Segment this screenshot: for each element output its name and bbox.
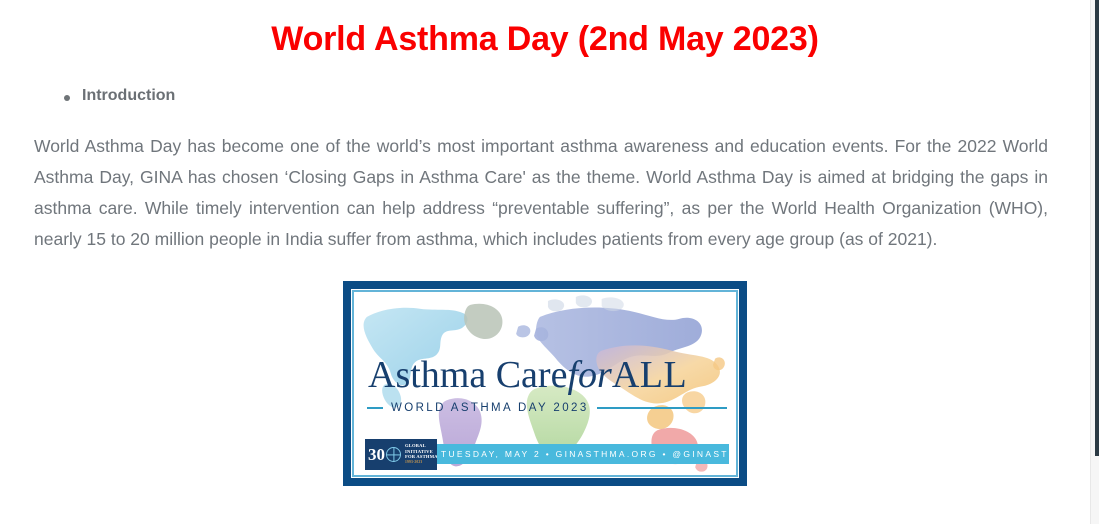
banner-headline-part2: ALL [612, 354, 687, 396]
vertical-scrollbar[interactable] [1090, 0, 1099, 524]
banner-headline: Asthma CareforALL [368, 355, 687, 395]
scrollbar-thumb[interactable] [1095, 0, 1099, 456]
banner-canvas: Asthma CareforALL WORLD ASTHMA DAY 2023 … [351, 289, 739, 478]
banner-footer-text: TUESDAY, MAY 2 • GINASTHMA.ORG • @GINAST… [441, 449, 739, 459]
banner-subtitle-row: WORLD ASTHMA DAY 2023 [367, 402, 727, 414]
section-heading-label: Introduction [82, 86, 175, 106]
globe-icon [386, 447, 401, 462]
page-title: World Asthma Day (2nd May 2023) [0, 0, 1090, 59]
bullet-icon [64, 95, 70, 101]
subtitle-right-rule [597, 407, 727, 409]
world-asthma-day-banner: Asthma CareforALL WORLD ASTHMA DAY 2023 … [343, 281, 747, 486]
gina-logo-wordmark: GLOBAL INITIATIVE FOR ASTHMA 1993-2023 [405, 443, 437, 466]
gina-logo-years: 1993-2023 [405, 460, 437, 465]
intro-paragraph: World Asthma Day has become one of the w… [0, 131, 1090, 255]
section-heading-introduction: Introduction [0, 86, 1090, 106]
gina-anniversary-number: 30 [368, 446, 385, 463]
gina-logo: 30 GLOBAL INITIATIVE FOR ASTHMA 1993-202… [365, 439, 437, 470]
banner-subtitle: WORLD ASTHMA DAY 2023 [391, 402, 589, 414]
subtitle-left-rule [367, 407, 383, 409]
gina-logo-line3: FOR ASTHMA [405, 454, 437, 459]
banner-container: Asthma CareforALL WORLD ASTHMA DAY 2023 … [0, 281, 1090, 486]
document-page: World Asthma Day (2nd May 2023) Introduc… [0, 0, 1090, 524]
banner-headline-italic: for [567, 354, 611, 396]
banner-headline-part1: Asthma Care [368, 354, 567, 396]
